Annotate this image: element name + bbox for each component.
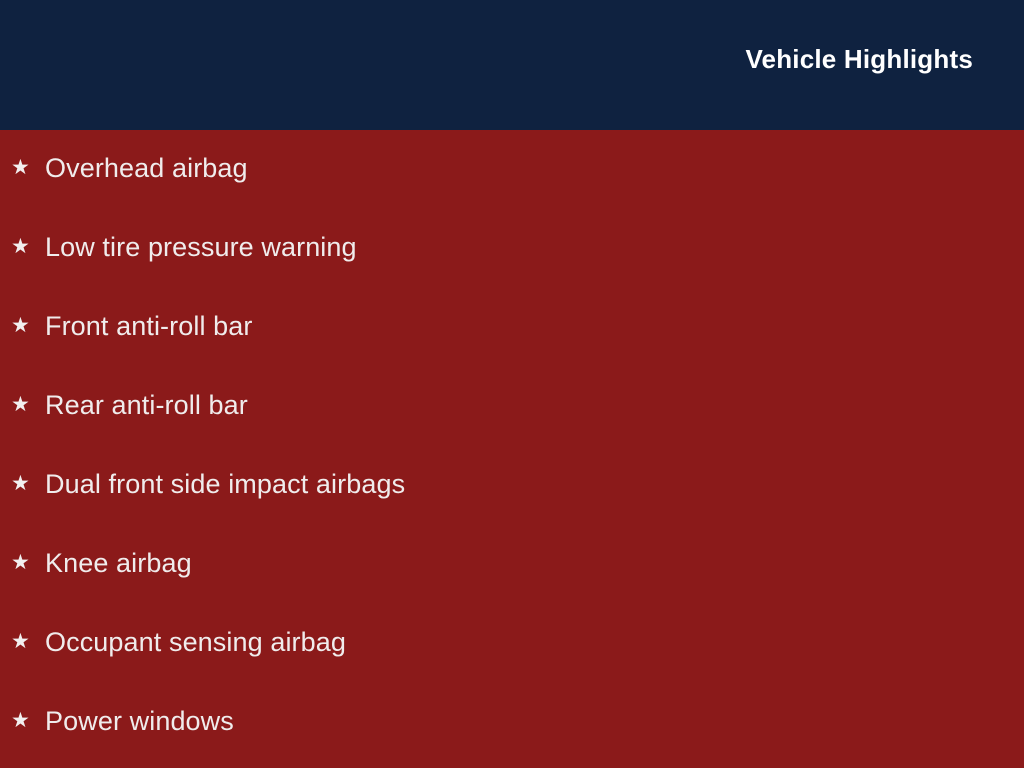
- star-icon: ★: [11, 552, 45, 573]
- star-icon: ★: [11, 394, 45, 415]
- star-icon: ★: [11, 710, 45, 731]
- list-item: ★ Occupant sensing airbag: [0, 629, 1024, 708]
- star-icon: ★: [11, 473, 45, 494]
- list-item: ★ Overhead airbag: [0, 130, 1024, 234]
- slide-body: ★ Overhead airbag ★ Low tire pressure wa…: [0, 130, 1024, 768]
- star-icon: ★: [11, 315, 45, 336]
- vehicle-highlights-list: ★ Overhead airbag ★ Low tire pressure wa…: [0, 130, 1024, 768]
- list-item-label: Knee airbag: [45, 550, 1024, 577]
- star-icon: ★: [11, 157, 45, 178]
- list-item-label: Rear anti-roll bar: [45, 392, 1024, 419]
- list-item: ★ Dual front side impact airbags: [0, 471, 1024, 550]
- slide-header: Vehicle Highlights: [0, 0, 1024, 130]
- list-item-label: Dual front side impact airbags: [45, 471, 1024, 498]
- list-item-label: Front anti-roll bar: [45, 313, 1024, 340]
- list-item: ★ Low tire pressure warning: [0, 234, 1024, 313]
- star-icon: ★: [11, 236, 45, 257]
- list-item-label: Power windows: [45, 708, 1024, 735]
- star-icon: ★: [11, 631, 45, 652]
- list-item: ★ Front anti-roll bar: [0, 313, 1024, 392]
- list-item: ★ Rear anti-roll bar: [0, 392, 1024, 471]
- list-item: ★ Knee airbag: [0, 550, 1024, 629]
- list-item: ★ Power windows: [0, 708, 1024, 768]
- list-item-label: Low tire pressure warning: [45, 234, 1024, 261]
- list-item-label: Overhead airbag: [45, 155, 1024, 182]
- list-item-label: Occupant sensing airbag: [45, 629, 1024, 656]
- page-title: Vehicle Highlights: [745, 45, 973, 74]
- vehicle-highlights-slide: Vehicle Highlights ★ Overhead airbag ★ L…: [0, 0, 1024, 768]
